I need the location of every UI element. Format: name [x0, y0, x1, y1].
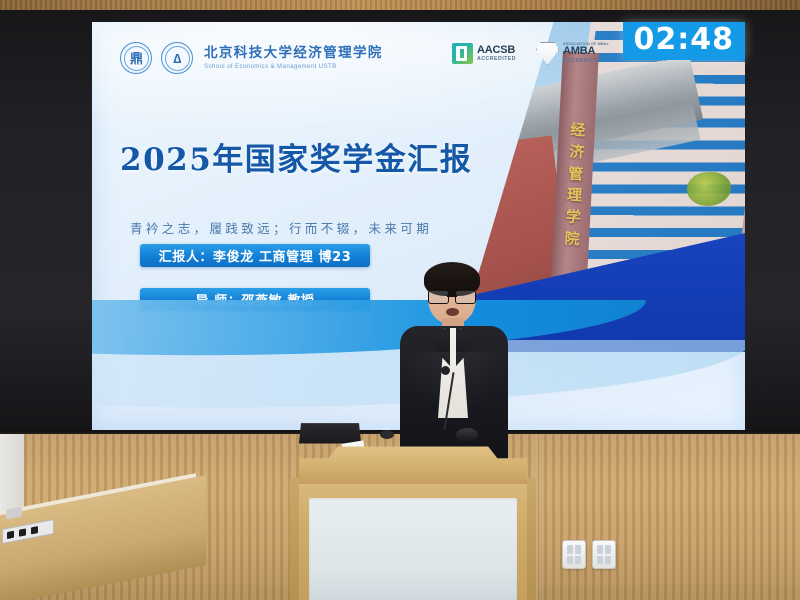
amba-logo: ASSOCIATION OF MBAs AMBA ACCREDITED [536, 42, 609, 65]
aacsb-sub: ACCREDITED [477, 57, 516, 62]
seal-glyph: ∆ [162, 43, 192, 73]
countdown-timer: 02:48 [623, 22, 746, 60]
seal-glyph: 鼎 [121, 43, 151, 73]
institution-name-en: School of Economics & Management USTB [204, 63, 383, 70]
glasses-lens-right [455, 290, 476, 304]
aacsb-logo: AACSB ACCREDITED [452, 43, 516, 64]
lectern [299, 444, 527, 600]
switch-button [575, 545, 581, 554]
suit-shading [400, 352, 508, 412]
control-key [19, 528, 26, 536]
aacsb-label: AACSB [477, 45, 516, 56]
lectern-front-panel [309, 498, 517, 600]
amba-icon [536, 42, 559, 65]
switch-button [575, 556, 581, 565]
slide-subtitle: 青衿之志，履践致远；行而不辍，未来可期 [130, 218, 432, 237]
control-key [31, 526, 38, 534]
amba-label: AMBA [563, 46, 609, 57]
wall-seam [536, 434, 538, 600]
podium-laptop[interactable] [299, 423, 361, 443]
slide-title: 2025年国家奖学金汇报 [120, 134, 472, 179]
institution-name-cn: 北京科技大学经济管理学院 [204, 46, 383, 61]
switch-button [597, 556, 603, 565]
secondary-microphone [380, 430, 394, 439]
switch-buttons [567, 545, 581, 564]
glasses-icon [428, 290, 476, 302]
switch-button [605, 556, 611, 565]
control-key [7, 531, 14, 539]
presenter-person [398, 262, 510, 472]
aacsb-icon [452, 43, 473, 64]
switch-buttons [597, 545, 611, 564]
wall-switch-plate-left[interactable] [562, 540, 586, 569]
glasses-lens-left [428, 290, 449, 304]
facade-window [455, 175, 475, 203]
university-seal-icon: 鼎 [120, 42, 152, 74]
switch-button [567, 545, 573, 554]
microphone-head [441, 366, 450, 375]
institution-name-block: 北京科技大学经济管理学院 School of Economics & Manag… [204, 46, 383, 70]
school-seal-icon: ∆ [161, 42, 193, 74]
presenter-mouth [446, 308, 459, 316]
lectern-desktop [299, 444, 527, 486]
amba-sub: ACCREDITED [563, 59, 609, 64]
microphone-base [456, 428, 478, 442]
presenter-bar: 汇报人：李俊龙 工商管理 博23 [140, 244, 370, 267]
lecture-hall-scene: 经济管理学院 鼎 ∆ 北京科技大学经济管理学院 School of Econom… [0, 0, 800, 600]
switch-button [597, 545, 603, 554]
switch-button [567, 556, 573, 565]
switch-button [605, 545, 611, 554]
slide-header-logo: 鼎 ∆ 北京科技大学经济管理学院 School of Economics & M… [120, 42, 383, 74]
wall-switch-plate-right[interactable] [592, 540, 616, 569]
